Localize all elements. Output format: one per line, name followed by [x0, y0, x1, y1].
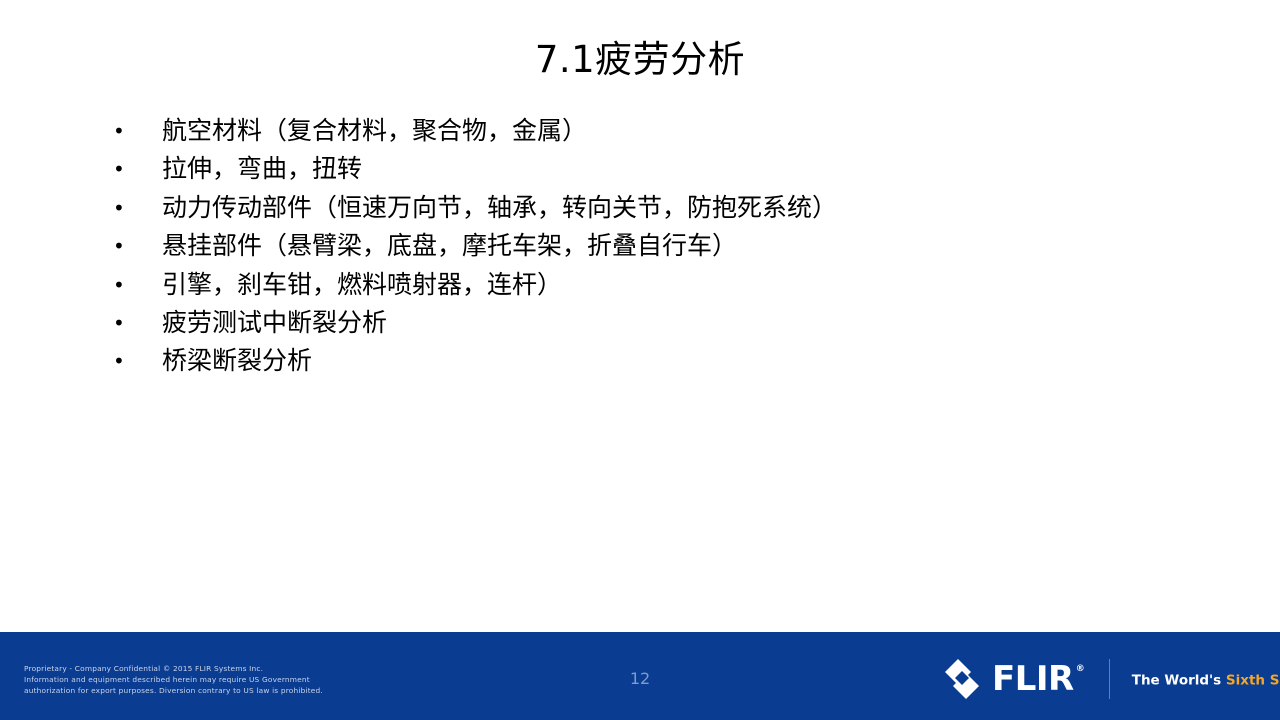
registered-trademark-icon: ® — [1076, 665, 1085, 674]
logo-divider — [1109, 659, 1110, 699]
bullet-marker-icon: • — [110, 266, 162, 304]
bullet-marker-icon: • — [110, 189, 162, 227]
bullet-list: • 航空材料（复合材料，聚合物，金属） • 拉伸，弯曲，扭转 • 动力传动部件（… — [110, 112, 1210, 381]
slide-canvas: 7.1疲劳分析 • 航空材料（复合材料，聚合物，金属） • 拉伸，弯曲，扭转 •… — [0, 0, 1280, 720]
list-item: • 疲劳测试中断裂分析 — [110, 304, 1210, 342]
list-item-label: 动力传动部件（恒速万向节，轴承，转向关节，防抱死系统） — [162, 189, 837, 227]
page-title: 7.1疲劳分析 — [0, 36, 1280, 84]
bullet-marker-icon: • — [110, 150, 162, 188]
list-item-label: 引擎，刹车钳，燃料喷射器，连杆） — [162, 266, 562, 304]
list-item: • 动力传动部件（恒速万向节，轴承，转向关节，防抱死系统） — [110, 189, 1210, 227]
list-item-label: 桥梁断裂分析 — [162, 342, 312, 380]
flir-logo-lockup: FLIR ® The World's Sixth Sense™ — [944, 655, 1264, 703]
bullet-marker-icon: • — [110, 304, 162, 342]
tagline-primary-text: The World's — [1132, 673, 1221, 689]
flir-wordmark: FLIR — [992, 662, 1074, 696]
list-item: • 拉伸，弯曲，扭转 — [110, 150, 1210, 188]
list-item-label: 拉伸，弯曲，扭转 — [162, 150, 362, 188]
bullet-marker-icon: • — [110, 227, 162, 265]
bullet-marker-icon: • — [110, 112, 162, 150]
list-item-label: 航空材料（复合材料，聚合物，金属） — [162, 112, 587, 150]
list-item: • 桥梁断裂分析 — [110, 342, 1210, 380]
list-item: • 航空材料（复合材料，聚合物，金属） — [110, 112, 1210, 150]
bullet-marker-icon: • — [110, 342, 162, 380]
tagline-accent-text: Sixth Sense — [1226, 673, 1280, 689]
flir-tagline: The World's Sixth Sense™ — [1132, 669, 1280, 689]
list-item: • 引擎，刹车钳，燃料喷射器，连杆） — [110, 266, 1210, 304]
list-item: • 悬挂部件（悬臂梁，底盘，摩托车架，折叠自行车） — [110, 227, 1210, 265]
list-item-label: 疲劳测试中断裂分析 — [162, 304, 387, 342]
list-item-label: 悬挂部件（悬臂梁，底盘，摩托车架，折叠自行车） — [162, 227, 737, 265]
flir-diamond-logo-icon — [944, 658, 990, 700]
